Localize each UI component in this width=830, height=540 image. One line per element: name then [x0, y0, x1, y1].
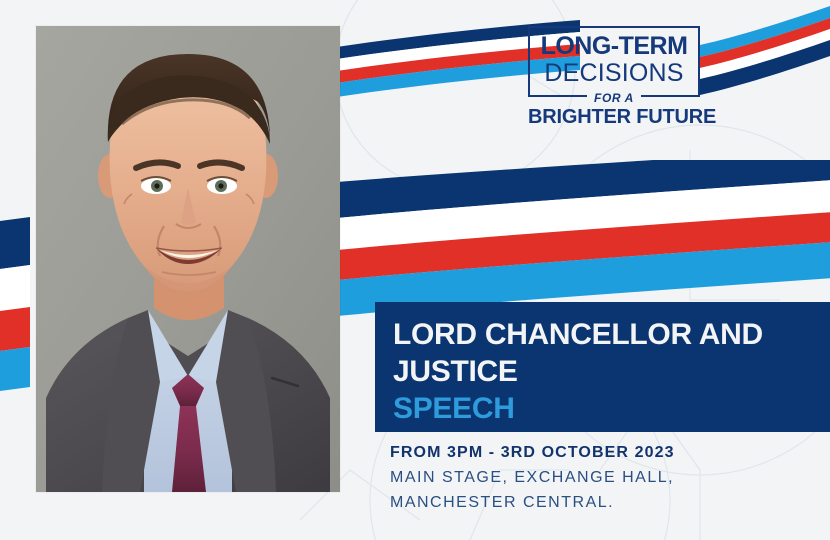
long-term-decisions-logo: LONG-TERM DECISIONS FOR A BRIGHTER FUTUR… [528, 26, 700, 129]
speaker-portrait [36, 26, 340, 492]
event-details: FROM 3PM - 3RD OCTOBER 2023 MAIN STAGE, … [390, 440, 675, 515]
title-inner: LORD CHANCELLOR AND JUSTICE SPEECH [375, 302, 830, 427]
logo-box: LONG-TERM DECISIONS [528, 26, 700, 97]
logo-line-brighter-future: BRIGHTER FUTURE [528, 106, 700, 129]
title-line-2: JUSTICE [393, 353, 830, 390]
logo-line-decisions: DECISIONS [538, 61, 690, 86]
ribbon-main-sweep [333, 160, 830, 325]
logo-connector-wrap: FOR A [528, 89, 700, 104]
title-line-1: LORD CHANCELLOR AND [393, 316, 830, 353]
logo-line-long-term: LONG-TERM [538, 34, 690, 59]
event-venue-line-2: MANCHESTER CENTRAL. [390, 490, 675, 515]
event-venue-line-1: MAIN STAGE, EXCHANGE HALL, [390, 465, 675, 490]
title-banner: LORD CHANCELLOR AND JUSTICE SPEECH [375, 302, 830, 432]
event-time: FROM 3PM - 3RD OCTOBER 2023 [390, 440, 675, 465]
logo-connector-for-a: FOR A [587, 91, 641, 106]
title-line-3-speech: SPEECH [393, 390, 830, 427]
conference-poster: LONG-TERM DECISIONS FOR A BRIGHTER FUTUR… [0, 0, 830, 540]
ribbon-top-right [700, 0, 830, 100]
ribbon-left-edge [0, 215, 30, 395]
